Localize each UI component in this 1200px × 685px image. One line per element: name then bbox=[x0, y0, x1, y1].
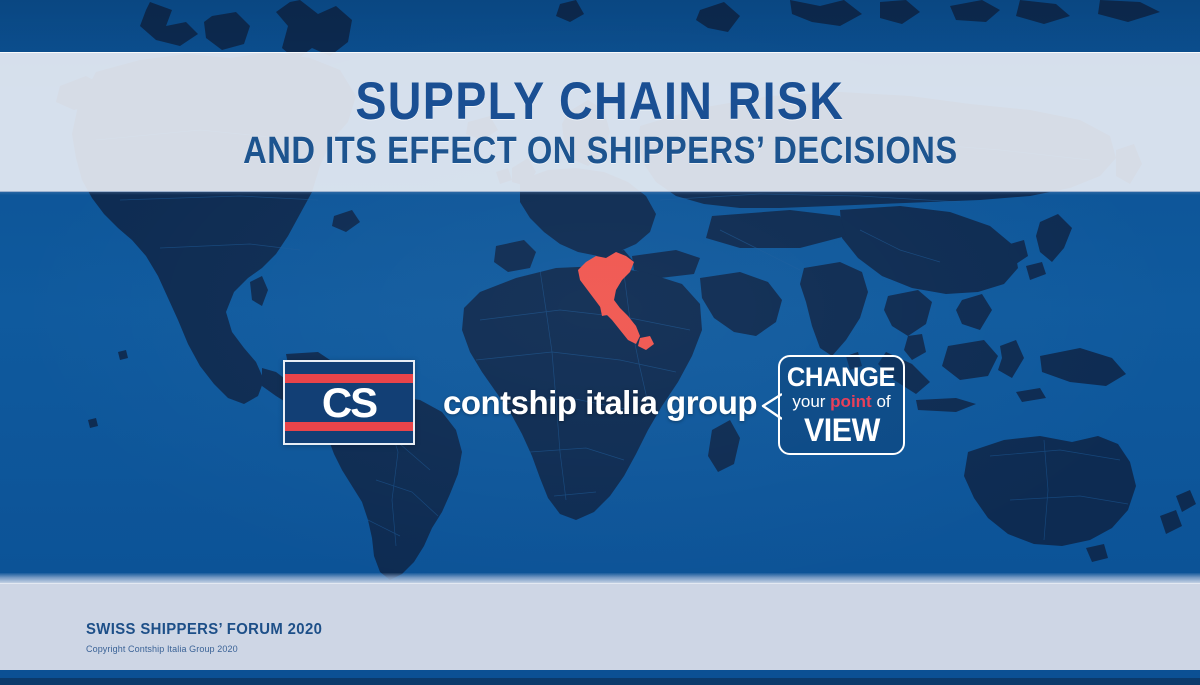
brand-lockup: CS contship italia group bbox=[283, 360, 757, 445]
tagline-suffix: of bbox=[872, 392, 891, 411]
tagline-prefix: your bbox=[792, 392, 830, 411]
brand-wordmark: contship italia group bbox=[443, 384, 757, 422]
footer-bottom-strip bbox=[0, 670, 1200, 678]
contship-logo-badge: CS bbox=[283, 360, 415, 445]
footer-text-block: SWISS SHIPPERS’ FORUM 2020 Copyright Con… bbox=[86, 621, 340, 654]
footer-divider bbox=[0, 573, 1200, 583]
page-subtitle: AND ITS EFFECT ON SHIPPERS’ DECISIONS bbox=[243, 132, 958, 170]
tagline-speech-bubble: CHANGE your point of VIEW bbox=[778, 355, 905, 455]
footer-copyright: Copyright Contship Italia Group 2020 bbox=[86, 644, 340, 654]
tagline-line-2: your point of bbox=[792, 391, 890, 414]
title-band: SUPPLY CHAIN RISK AND ITS EFFECT ON SHIP… bbox=[0, 52, 1200, 192]
page-title: SUPPLY CHAIN RISK bbox=[356, 75, 845, 128]
tagline-line-1: CHANGE bbox=[787, 364, 895, 391]
tagline-accent-word: point bbox=[830, 392, 872, 411]
presentation-slide: SUPPLY CHAIN RISK AND ITS EFFECT ON SHIP… bbox=[0, 0, 1200, 685]
speech-bubble-tail-icon bbox=[760, 393, 782, 421]
footer-event-name: SWISS SHIPPERS’ FORUM 2020 bbox=[86, 621, 322, 639]
tagline-line-3: VIEW bbox=[804, 414, 880, 446]
logo-monogram: CS bbox=[285, 382, 413, 424]
